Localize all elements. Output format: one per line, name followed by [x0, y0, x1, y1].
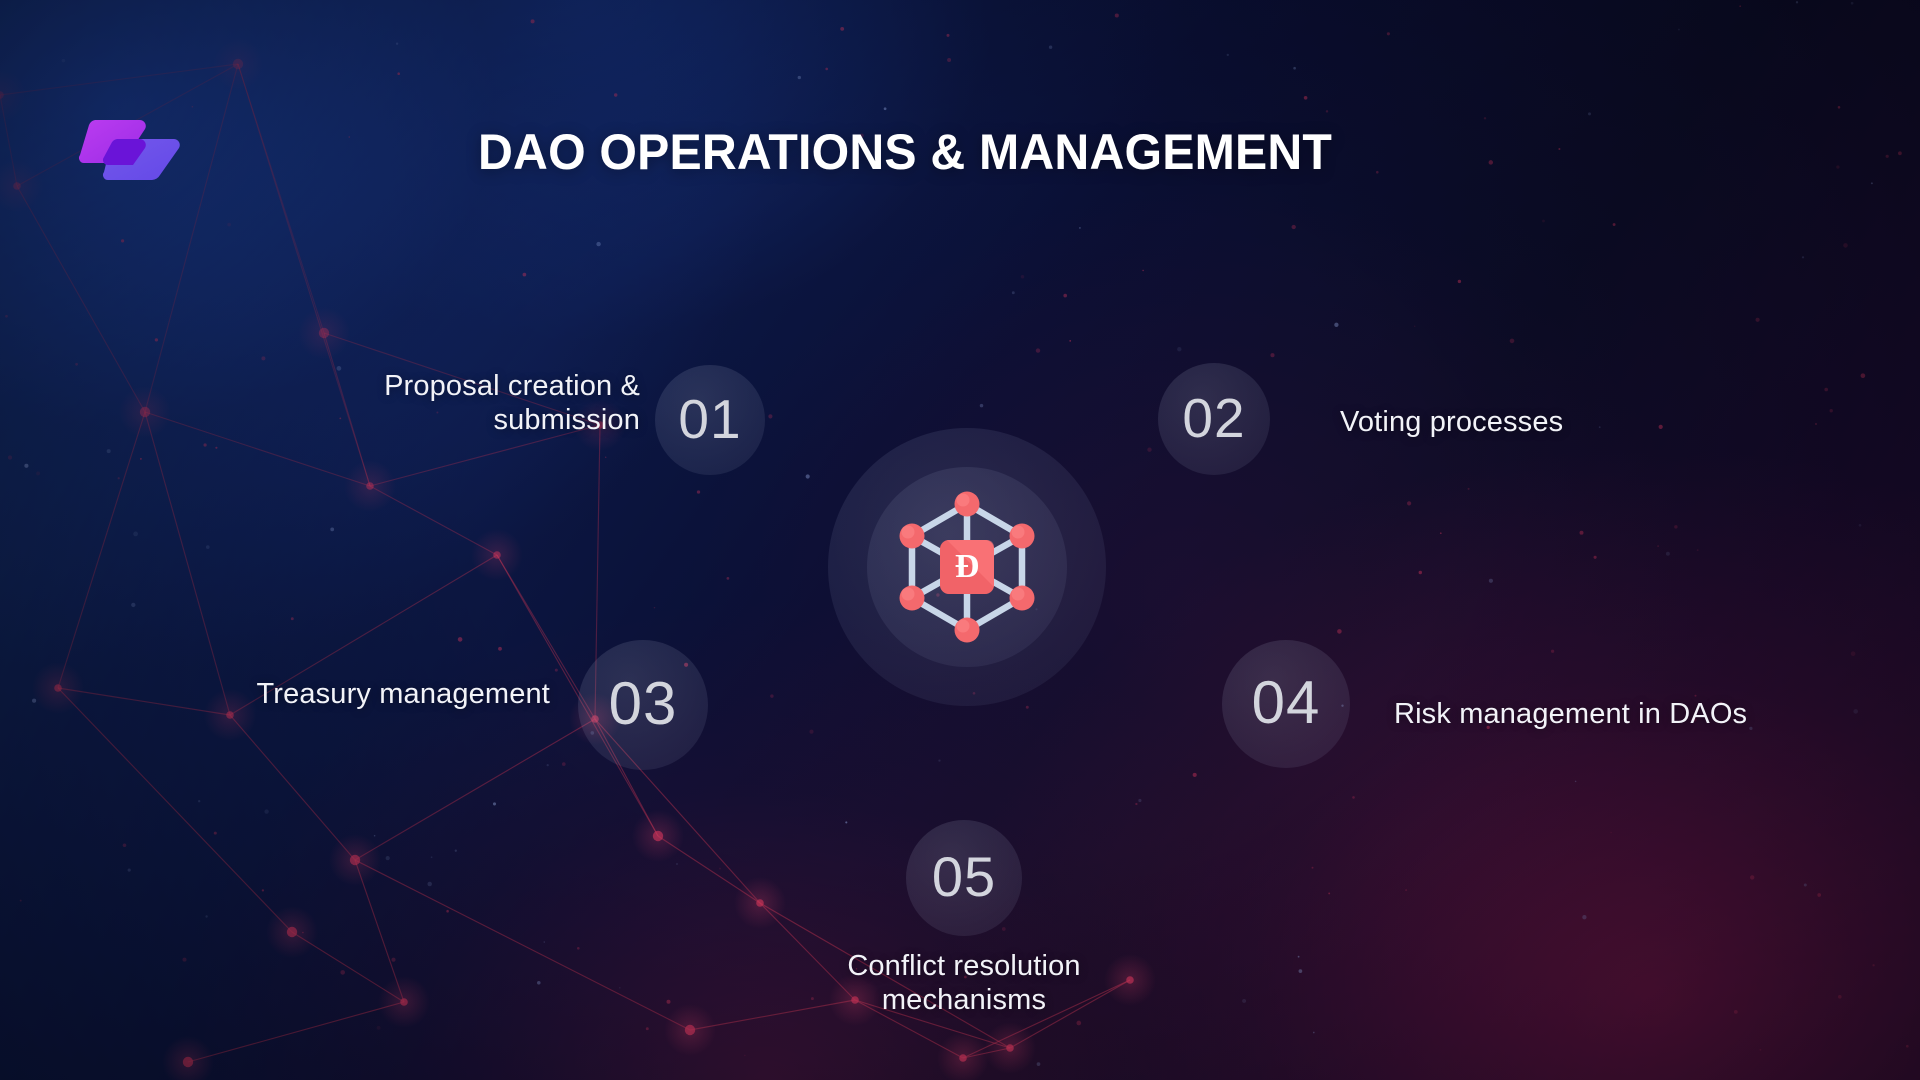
item-number-02: 02	[1182, 391, 1245, 446]
item-number-bubble-04[interactable]: 04	[1222, 640, 1350, 768]
item-number-bubble-01[interactable]: 01	[655, 365, 765, 475]
item-label-03: Treasury management	[140, 678, 550, 712]
item-label-02: Voting processes	[1340, 406, 1800, 440]
item-number-05: 05	[932, 849, 996, 905]
company-logo[interactable]	[78, 118, 184, 182]
svg-text:Đ: Đ	[955, 548, 980, 585]
item-label-05: Conflict resolution mechanisms	[764, 950, 1164, 1017]
item-number-bubble-03[interactable]: 03	[578, 640, 708, 770]
item-number-03: 03	[609, 674, 678, 734]
center-emblem: Đ	[828, 428, 1106, 706]
item-number-bubble-02[interactable]: 02	[1158, 363, 1270, 475]
page-title: DAO OPERATIONS & MANAGEMENT	[478, 126, 1443, 179]
item-number-01: 01	[678, 392, 741, 447]
item-label-01: Proposal creation & submission	[260, 370, 640, 437]
dao-network-hexagon-icon: Đ	[887, 484, 1047, 650]
item-number-04: 04	[1252, 673, 1321, 733]
slide-root: DAO OPERATIONS & MANAGEMENT	[0, 0, 1920, 1080]
item-number-bubble-05[interactable]: 05	[906, 820, 1022, 936]
item-label-04: Risk management in DAOs	[1394, 698, 1864, 732]
